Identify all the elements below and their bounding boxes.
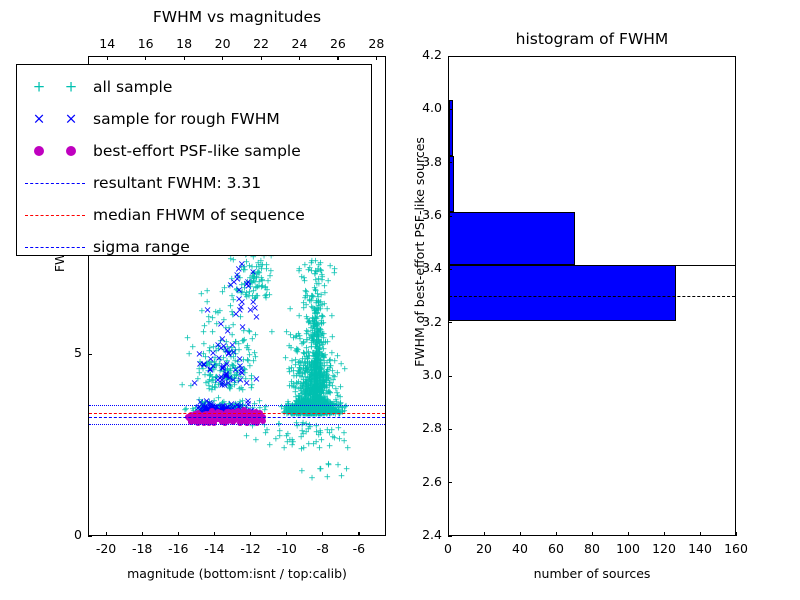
legend-label: best-effort PSF-like sample <box>93 142 301 160</box>
legend-item: resultant FWHM: 3.31 <box>17 167 371 199</box>
median-line <box>449 265 735 266</box>
tick-mark <box>448 322 452 323</box>
legend-label: sigma range <box>93 238 190 256</box>
right-chart-title: histogram of FWHM <box>448 30 736 48</box>
tick-label: 16 <box>124 36 168 51</box>
tick-mark <box>664 532 665 536</box>
tick-mark <box>106 532 107 536</box>
left-xaxis-label: magnitude (bottom:isnt / top:calib) <box>88 566 386 581</box>
tick-label: 26 <box>316 36 360 51</box>
tick-mark <box>214 532 215 536</box>
tick-mark <box>88 354 92 355</box>
tick-label: 2.6 <box>406 474 442 489</box>
tick-label: 4.2 <box>406 47 442 62</box>
tick-label: 0 <box>46 527 82 542</box>
legend-line-icon <box>25 247 85 248</box>
histogram-bars-layer <box>449 57 735 535</box>
tick-label: 28 <box>354 36 398 51</box>
legend-item: ++all sample <box>17 71 371 103</box>
histogram-bar <box>449 265 676 321</box>
tick-label: -6 <box>337 541 381 556</box>
tick-label: 2.4 <box>406 527 442 542</box>
right-xaxis-label: number of sources <box>448 566 736 581</box>
legend-label: median FHWM of sequence <box>93 206 305 224</box>
tick-label: 160 <box>714 541 758 556</box>
legend-marker-icon <box>66 146 76 156</box>
legend-marker-icon: + <box>65 80 78 95</box>
histogram-bar <box>449 156 454 212</box>
tick-label: 14 <box>85 36 129 51</box>
legend-symbol: ++ <box>17 71 93 103</box>
legend-item: sigma range <box>17 231 371 263</box>
legend-symbol: ×× <box>17 103 93 135</box>
legend-label: resultant FWHM: 3.31 <box>93 174 261 192</box>
reference-line <box>89 413 385 414</box>
tick-mark <box>448 482 452 483</box>
tick-mark <box>700 532 701 536</box>
legend-symbol <box>17 199 93 231</box>
tick-mark <box>448 269 452 270</box>
tick-mark <box>184 56 185 60</box>
tick-mark <box>448 56 452 57</box>
left-chart-title: FWHM vs magnitudes <box>88 8 386 26</box>
tick-mark <box>628 532 629 536</box>
legend-label: all sample <box>93 78 172 96</box>
resultant-fwhm-line <box>449 296 735 297</box>
tick-mark <box>448 536 452 537</box>
legend-marker-icon: + <box>33 80 46 95</box>
tick-mark <box>556 532 557 536</box>
legend-item: median FHWM of sequence <box>17 199 371 231</box>
tick-label: 18 <box>162 36 206 51</box>
tick-mark <box>88 536 92 537</box>
tick-mark <box>145 56 146 60</box>
tick-mark <box>592 532 593 536</box>
reference-line <box>89 405 385 406</box>
tick-label: 22 <box>239 36 283 51</box>
tick-mark <box>358 532 359 536</box>
tick-label: 5 <box>46 345 82 360</box>
histogram-bar <box>449 212 575 265</box>
legend-symbol <box>17 135 93 167</box>
tick-mark <box>178 532 179 536</box>
legend-line-icon <box>25 183 85 184</box>
tick-mark <box>299 56 300 60</box>
legend-item: best-effort PSF-like sample <box>17 135 371 167</box>
tick-mark <box>448 162 452 163</box>
tick-mark <box>222 56 223 60</box>
tick-mark <box>261 56 262 60</box>
tick-mark <box>448 216 452 217</box>
legend-label: sample for rough FWHM <box>93 110 280 128</box>
tick-mark <box>448 376 452 377</box>
legend-box: ++all sample××sample for rough FWHMbest-… <box>16 64 372 256</box>
tick-mark <box>322 532 323 536</box>
reference-line <box>89 417 385 418</box>
legend-marker-icon: × <box>33 112 46 127</box>
legend-symbol <box>17 167 93 199</box>
tick-mark <box>107 56 108 60</box>
right-yaxis-label: FWHM of best-effort PSF-like sources <box>412 72 427 432</box>
tick-mark <box>520 532 521 536</box>
tick-label: 24 <box>277 36 321 51</box>
reference-line <box>89 424 385 425</box>
histogram-axes <box>448 56 736 536</box>
tick-mark <box>448 109 452 110</box>
legend-marker-icon <box>34 146 44 156</box>
legend-symbol <box>17 231 93 263</box>
tick-mark <box>376 56 377 60</box>
tick-mark <box>337 56 338 60</box>
tick-mark <box>250 532 251 536</box>
tick-mark <box>142 532 143 536</box>
tick-mark <box>736 532 737 536</box>
tick-mark <box>448 429 452 430</box>
figure: FWHM vs magnitudes +++++++++++++++++++++… <box>0 0 800 600</box>
tick-mark <box>484 532 485 536</box>
tick-mark <box>286 532 287 536</box>
tick-label: 20 <box>201 36 245 51</box>
legend-line-icon <box>25 215 85 216</box>
legend-item: ××sample for rough FWHM <box>17 103 371 135</box>
legend-marker-icon: × <box>65 112 78 127</box>
